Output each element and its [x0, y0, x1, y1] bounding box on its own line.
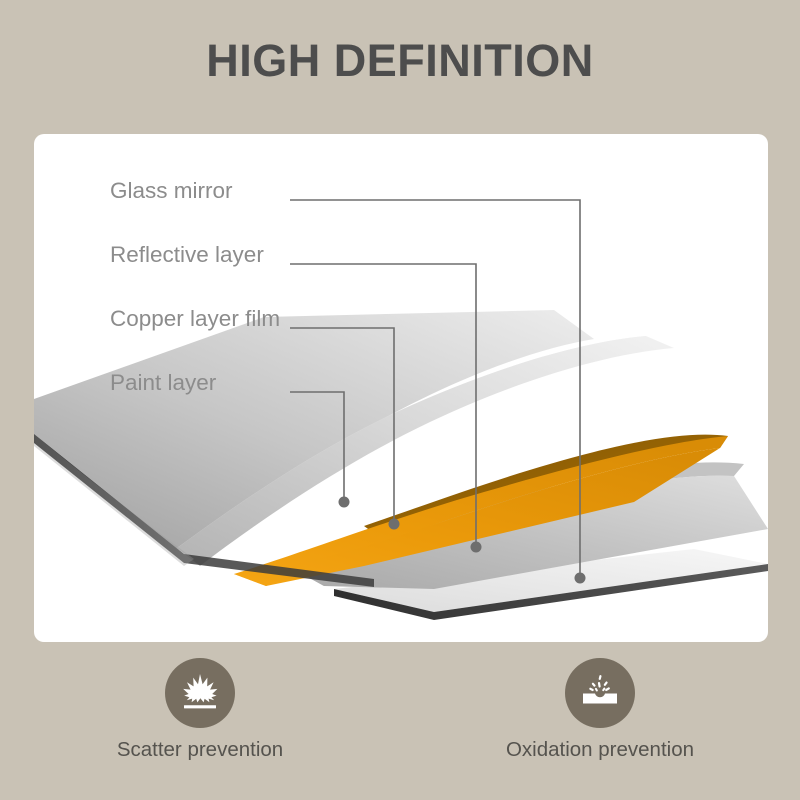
- layer-label-copper-layer-film: Copper layer film: [110, 308, 280, 331]
- feature-icon-badge: [165, 658, 235, 728]
- diagram-card: Glass mirror Reflective layer Copper lay…: [34, 134, 768, 642]
- feature-icon-badge: [565, 658, 635, 728]
- feature-list: Scatter prevention: [0, 658, 800, 761]
- dented-plate-icon: [578, 671, 622, 715]
- leader-dot-paint-layer: [339, 497, 350, 508]
- feature-scatter-prevention: Scatter prevention: [85, 658, 315, 761]
- layer-label-reflective-layer: Reflective layer: [110, 244, 264, 267]
- burst-icon: [178, 671, 222, 715]
- leader-dot-copper-layer-film: [389, 519, 400, 530]
- feature-caption-scatter-prevention: Scatter prevention: [117, 740, 283, 761]
- layer-label-paint-layer: Paint layer: [110, 372, 216, 395]
- feature-caption-oxidation-prevention: Oxidation prevention: [506, 740, 694, 761]
- leader-dot-reflective-layer: [471, 542, 482, 553]
- feature-oxidation-prevention: Oxidation prevention: [485, 658, 715, 761]
- page-title: HIGH DEFINITION: [0, 38, 800, 83]
- leader-dot-glass-mirror: [575, 573, 586, 584]
- poster-root: HIGH DEFINITION: [0, 0, 800, 800]
- layer-label-glass-mirror: Glass mirror: [110, 180, 233, 203]
